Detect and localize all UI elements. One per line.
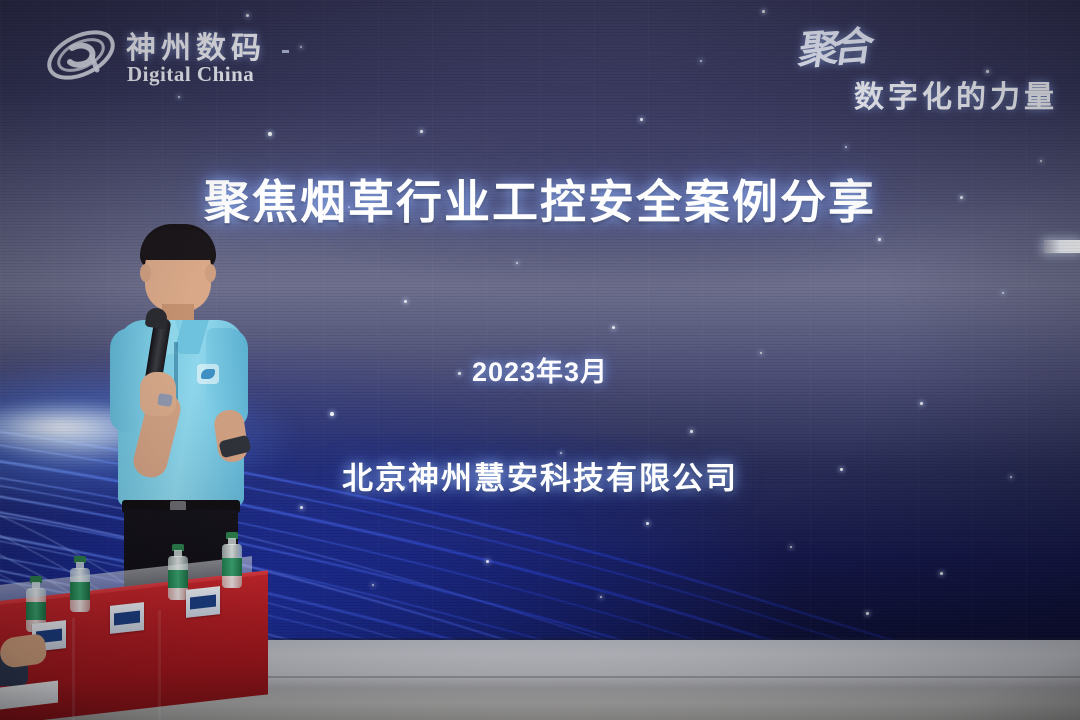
table-skirt-fold bbox=[158, 610, 161, 720]
table-skirt-fold bbox=[72, 618, 75, 720]
digital-china-chinese-name: 神州数码 bbox=[126, 23, 266, 67]
digital-china-english-name: Digital China bbox=[127, 62, 254, 87]
audience-hand bbox=[0, 633, 48, 669]
presenter-hair-front bbox=[141, 230, 215, 260]
event-tagline: 数字化的力量 bbox=[854, 72, 1058, 116]
event-calligraphy-text: 聚合 bbox=[795, 14, 872, 77]
presenter-ear-right bbox=[205, 264, 216, 282]
slide-title: 聚焦烟草行业工控安全案例分享 bbox=[0, 179, 1080, 225]
event-logo: 聚合 数字化的力量 bbox=[798, 16, 1058, 114]
microphone-tip bbox=[157, 393, 173, 407]
name-card bbox=[110, 602, 144, 634]
event-calligraphy-mark: 聚合 bbox=[800, 16, 930, 78]
digital-china-logo: 神州数码 Digital China bbox=[42, 22, 312, 92]
swirl-spiral-icon bbox=[42, 24, 120, 86]
audience-member bbox=[0, 628, 56, 688]
presenter-ear-left bbox=[140, 264, 151, 282]
logo-accent-dot bbox=[282, 50, 289, 53]
presenter-shirt-badge bbox=[197, 364, 219, 384]
name-card bbox=[186, 586, 220, 618]
conference-photo: 神州数码 Digital China 聚合 数字化的力量 聚焦烟草行业工控安全案… bbox=[0, 0, 1080, 720]
